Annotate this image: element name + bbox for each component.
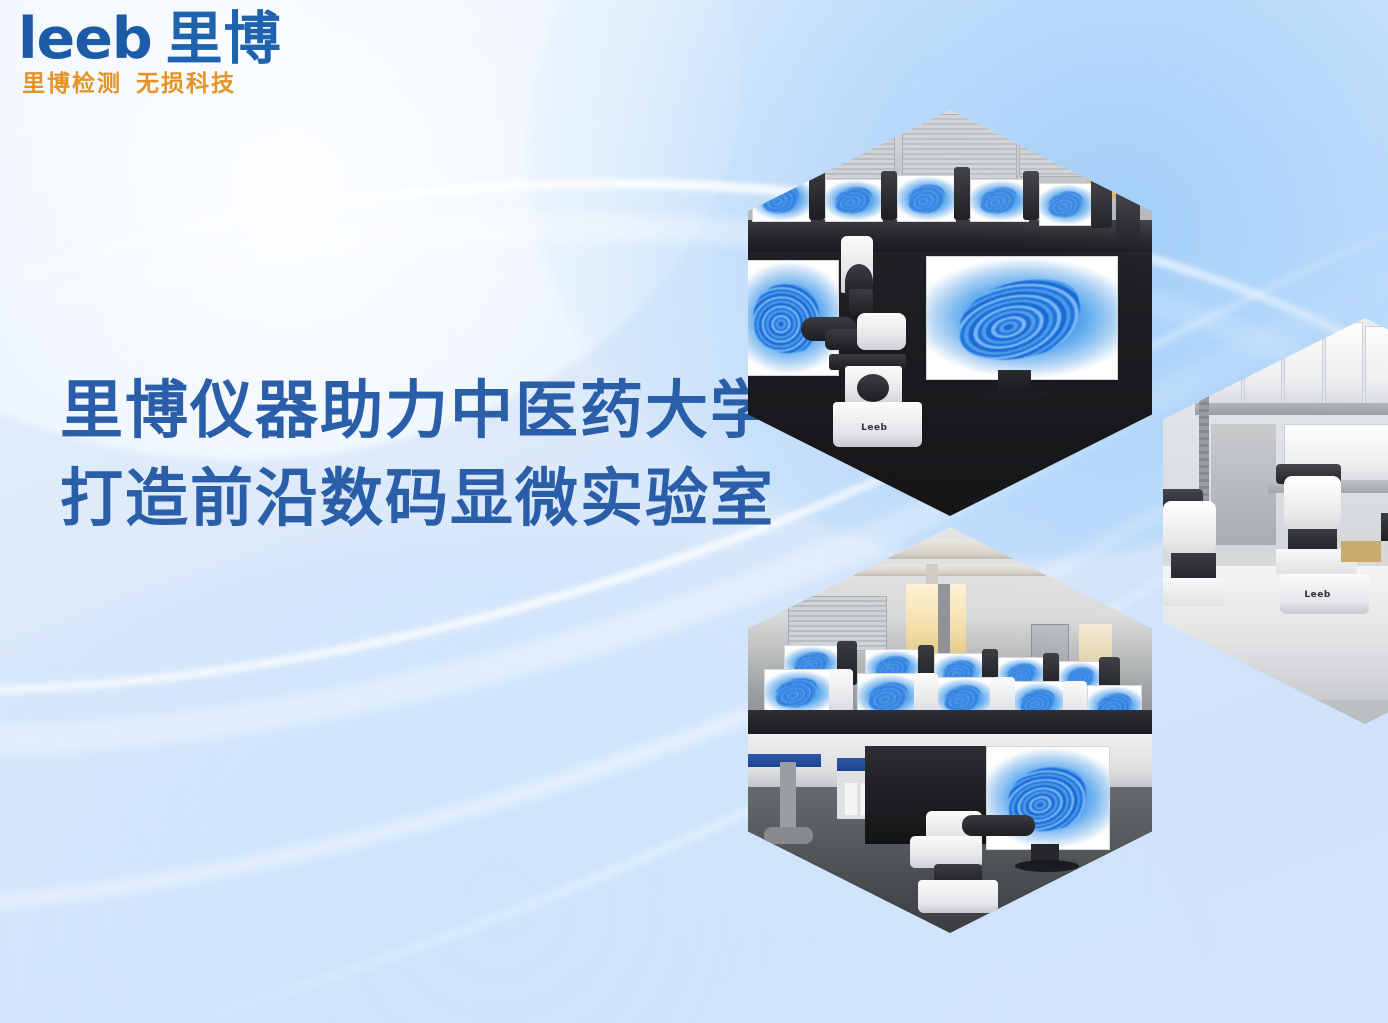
headline: 里博仪器助力中医药大学 打造前沿数码显微实验室	[60, 367, 750, 543]
logo-tagline: 里博检测无损科技	[22, 70, 318, 98]
logo-tagline-left: 里博检测	[22, 71, 122, 97]
headline-line-1: 里博仪器助力中医药大学	[60, 367, 750, 455]
photo-microscopes-on-bench: Leeb Leeb	[1163, 318, 1388, 724]
logo-latin-text: leeb	[18, 6, 152, 72]
photo-digital-microscope-workstation: Leeb	[748, 110, 1152, 516]
photo-hex-microscope-workstation: Leeb	[748, 110, 1152, 516]
photo-hex-microscopes-on-bench: Leeb Leeb	[1163, 318, 1388, 724]
photo-hex-classroom-rows	[748, 527, 1152, 933]
logo-tagline-right: 无损科技	[136, 71, 236, 97]
logo-wordmark: leeb里博	[18, 10, 318, 68]
promo-banner: leeb里博 里博检测无损科技 里博仪器助力中医药大学 打造前沿数码显微实验室	[0, 0, 1388, 1023]
headline-line-2: 打造前沿数码显微实验室	[60, 455, 750, 543]
brand-logo: leeb里博 里博检测无损科技	[18, 10, 318, 102]
logo-cjk-text: 里博	[166, 6, 282, 72]
photo-classroom-microscope-rows	[748, 527, 1152, 933]
